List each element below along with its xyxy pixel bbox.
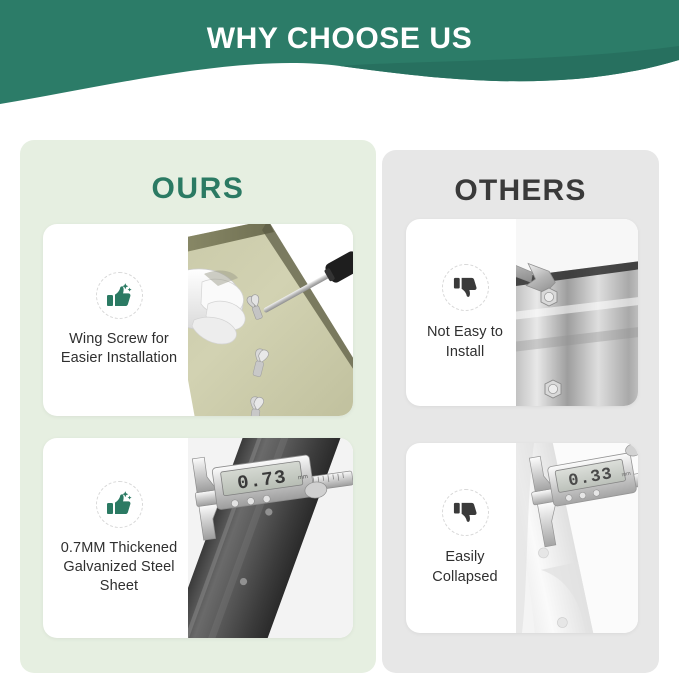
card-label: Wing Screw for Easier Installation [49, 330, 189, 368]
photo-caliper-dark-gutter: 0.73 mm [188, 438, 353, 638]
thumbs-down-icon [442, 264, 489, 311]
photo-wing-screw-installation [188, 224, 353, 416]
photo-wrench-hex-bolts [516, 219, 638, 406]
card-label: Not Easy to Install [412, 322, 518, 362]
header-banner: WHY CHOOSE US [0, 0, 679, 108]
card-text-column: Wing Screw for Easier Installation [43, 224, 195, 416]
card-text-column: 0.7MM Thickened Galvanized Steel Sheet [43, 438, 195, 638]
panel-ours-heading: OURS [20, 172, 376, 206]
card-text-column: Not Easy to Install [406, 219, 524, 406]
card-ours-wing-screw[interactable]: Wing Screw for Easier Installation [43, 224, 353, 416]
why-choose-us-infographic: WHY CHOOSE US OURS Wing Screw for Easier… [0, 0, 679, 679]
photo-caliper-white-gutter: 0.33 mm [516, 443, 638, 633]
panel-ours: OURS Wing Screw for Easier Installation [20, 140, 376, 673]
card-others-easily-collapsed[interactable]: Easily Collapsed [406, 443, 638, 633]
panel-others-heading: OTHERS [382, 174, 659, 208]
thumbs-up-icon [96, 481, 143, 528]
card-text-column: Easily Collapsed [406, 443, 524, 633]
card-label: 0.7MM Thickened Galvanized Steel Sheet [49, 539, 189, 596]
card-others-not-easy-install[interactable]: Not Easy to Install [406, 219, 638, 406]
thumbs-up-icon [96, 272, 143, 319]
card-label: Easily Collapsed [412, 547, 518, 587]
thumbs-down-icon [442, 489, 489, 536]
card-ours-thickness[interactable]: 0.7MM Thickened Galvanized Steel Sheet [43, 438, 353, 638]
panel-others: OTHERS Not Easy to Install [382, 150, 659, 673]
page-title: WHY CHOOSE US [0, 20, 679, 58]
